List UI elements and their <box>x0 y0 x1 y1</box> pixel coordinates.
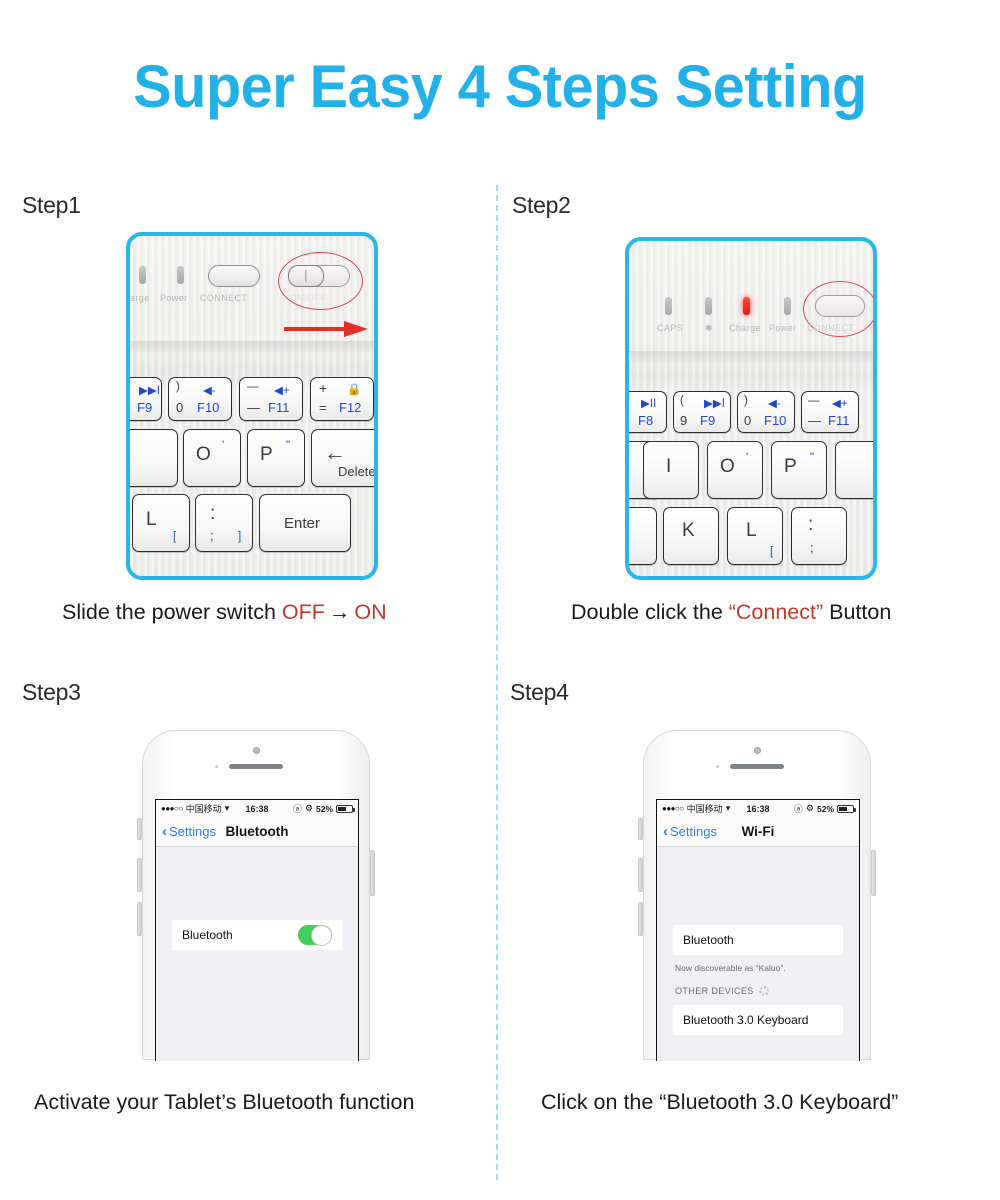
alarm-icon: ⓐ <box>293 802 302 815</box>
battery-percent: 52% <box>316 804 333 814</box>
key-l[interactable]: L [ <box>132 494 190 552</box>
key-icon-next-track: ▶▶I <box>139 383 160 397</box>
key-f8[interactable]: ✶ ▶II 8 F8 <box>625 391 667 433</box>
step3-label: Step3 <box>22 679 81 706</box>
key-label-apostrophe: ' <box>746 452 748 464</box>
led-bluetooth <box>705 297 712 315</box>
key-label-f10: F10 <box>764 413 786 428</box>
led-charge <box>743 297 750 315</box>
phone-power-button <box>370 850 375 896</box>
indicator-label-connect: CONNECT <box>807 323 854 333</box>
phone-screen: ●●●○○ 中国移动 ▾ 16:38 ⓐ ⚙ 52% ‹ S <box>656 799 860 1061</box>
step1-caption-on: ON <box>354 600 386 624</box>
key-letter[interactable] <box>126 429 178 487</box>
key-label-0: 0 <box>176 400 183 415</box>
step4-label: Step4 <box>510 679 569 706</box>
other-devices-label: OTHER DEVICES <box>675 986 754 996</box>
key-label-bracket-open: [ <box>770 546 773 558</box>
key-o[interactable]: O ' <box>183 429 241 487</box>
step4-caption: Click on the “Bluetooth 3.0 Keyboard” <box>541 1090 898 1115</box>
discoverable-note: Now discoverable as “Kaluo”. <box>675 963 786 973</box>
key-enter[interactable]: Enter <box>259 494 351 552</box>
key-label-o: O <box>196 444 211 466</box>
key-label-semicolon: ; <box>210 528 214 543</box>
led-indicator <box>139 266 146 284</box>
indicator-label-connect: CONNECT <box>200 293 247 303</box>
metal-edge-line <box>130 341 374 355</box>
nav-bar: ‹ Settings Bluetooth <box>156 817 358 847</box>
key-delete[interactable]: ← Delete <box>311 429 378 487</box>
step1-caption-off: OFF <box>282 600 325 624</box>
key-f10[interactable]: ) ◀- 0 F10 <box>737 391 795 433</box>
key-label-l: L <box>746 520 757 542</box>
key-label-semicolon: ; <box>810 540 814 555</box>
step2-caption-connect: “Connect” <box>729 600 823 624</box>
rotation-lock-icon: ⚙ <box>305 803 313 814</box>
key-semicolon[interactable]: : ; ] <box>195 494 253 552</box>
key-label-quote: " <box>810 452 814 464</box>
bluetooth-row-label: Bluetooth <box>182 928 233 942</box>
step1-caption: Slide the power switch OFF→ON <box>62 600 387 625</box>
key-label-quote: " <box>286 440 290 452</box>
earpiece-speaker <box>730 764 784 769</box>
step2-caption: Double click the “Connect” Button <box>571 600 891 625</box>
proximity-sensor-icon <box>716 765 719 768</box>
nav-bar: ‹ Settings Wi-Fi <box>657 817 859 847</box>
device-label: Bluetooth 3.0 Keyboard <box>683 1013 808 1027</box>
connect-button[interactable] <box>208 265 260 287</box>
key-icon-volume-up: ◀+ <box>832 396 848 410</box>
status-right: ⓐ ⚙ 52% <box>293 802 353 815</box>
metal-edge-line <box>629 351 873 365</box>
indicator-label-power: Power <box>160 293 188 303</box>
led-power <box>784 297 791 315</box>
phone-power-button <box>871 850 876 896</box>
step2-label: Step2 <box>512 192 571 219</box>
indicator-label-caps: CAPS <box>657 323 683 333</box>
step1-caption-prefix: Slide the power switch <box>62 600 282 624</box>
step1-label: Step1 <box>22 192 81 219</box>
bluetooth-toggle-row[interactable]: Bluetooth <box>172 920 342 950</box>
key-label-f12: F12 <box>339 400 361 415</box>
key-icon-play-pause: ▶II <box>641 396 656 410</box>
step2-keyboard-photo: CAPS ✱ Charge Power CONNECT ✶ ▶II 8 F8 (… <box>625 237 877 580</box>
phone-body: ●●●○○ 中国移动 ▾ 16:38 ⓐ ⚙ 52% ‹ S <box>142 730 370 1060</box>
key-label-apostrophe: ' <box>222 440 224 452</box>
step2-caption-prefix: Double click the <box>571 600 729 624</box>
key-semicolon[interactable]: : ; <box>791 507 847 565</box>
key-p[interactable]: P " <box>771 441 827 499</box>
key-label-underscore: — <box>247 400 260 415</box>
indicator-label-charge: Charge <box>729 323 761 333</box>
step2-caption-suffix: Button <box>823 600 891 624</box>
bluetooth-row-label: Bluetooth <box>683 933 734 947</box>
front-camera-icon <box>754 747 761 754</box>
key-label-k: K <box>682 520 695 542</box>
key-o[interactable]: O ' <box>707 441 763 499</box>
phone-screen: ●●●○○ 中国移动 ▾ 16:38 ⓐ ⚙ 52% ‹ S <box>155 799 359 1061</box>
key-label-p: P <box>784 456 797 478</box>
key-f11[interactable]: — ◀+ — F11 <box>801 391 859 433</box>
loading-spinner-icon <box>759 986 769 996</box>
key-label-i: I <box>666 456 671 478</box>
key-label-underscore: — <box>808 413 821 428</box>
other-devices-header: OTHER DEVICES <box>675 986 769 996</box>
key-label-f8: F8 <box>638 413 653 428</box>
key-i[interactable]: I <box>643 441 699 499</box>
key-f10[interactable]: ) ◀- 0 F10 <box>168 377 232 421</box>
key-label-p: P <box>260 444 273 466</box>
page-title: Super Easy 4 Steps Setting <box>20 52 980 121</box>
key-label-paren-close: ) <box>744 395 748 407</box>
key-k[interactable]: K <box>663 507 719 565</box>
red-highlight-ellipse <box>278 252 363 310</box>
step1-keyboard-photo: arge Power CONNECT ON/OFF ▶▶I F9 ) ◀- 0 … <box>126 232 378 580</box>
alarm-icon: ⓐ <box>794 802 803 815</box>
battery-percent: 52% <box>817 804 834 814</box>
key-label-minus: — <box>247 381 259 393</box>
indicator-label-bluetooth: ✱ <box>705 323 713 334</box>
key-icon-volume-down: ◀- <box>768 396 781 410</box>
device-row-bluetooth-keyboard[interactable]: Bluetooth 3.0 Keyboard <box>673 1005 843 1035</box>
key-label-delete: Delete <box>338 464 376 479</box>
key-icon-volume-down: ◀- <box>203 383 216 397</box>
red-arrow-icon <box>282 318 370 340</box>
key-icon-lock: 🔒 <box>347 382 361 396</box>
key-f12[interactable]: + 🔒 = F12 <box>310 377 374 421</box>
rotation-lock-icon: ⚙ <box>806 803 814 814</box>
key-icon-backspace-arrow: ← <box>324 440 346 466</box>
earpiece-speaker <box>229 764 283 769</box>
status-right: ⓐ ⚙ 52% <box>794 802 854 815</box>
key-f9[interactable]: ( ▶▶I 9 F9 <box>673 391 731 433</box>
screen-title: Bluetooth <box>156 824 358 839</box>
front-camera-icon <box>253 747 260 754</box>
key-label-bracket-open: [ <box>173 531 176 543</box>
status-bar: ●●●○○ 中国移动 ▾ 16:38 ⓐ ⚙ 52% <box>657 800 859 817</box>
led-caps <box>665 297 672 315</box>
key-label-o: O <box>720 456 735 478</box>
step1-caption-arrow: → <box>325 600 355 625</box>
key-f11[interactable]: — ◀+ — F11 <box>239 377 303 421</box>
key-label-asterisk: ✶ <box>625 395 628 409</box>
key-bracket[interactable] <box>835 441 877 499</box>
key-label-f11: F11 <box>828 413 849 428</box>
screen-title: Wi-Fi <box>657 824 859 839</box>
key-p[interactable]: P " <box>247 429 305 487</box>
battery-icon <box>336 805 353 813</box>
key-label-f9: F9 <box>700 413 715 428</box>
key-label-minus: — <box>808 395 820 407</box>
key-label-l: L <box>146 509 157 531</box>
key-label-colon: : <box>808 514 813 536</box>
key-label-paren-open: ( <box>680 395 684 407</box>
phone-body: ●●●○○ 中国移动 ▾ 16:38 ⓐ ⚙ 52% ‹ S <box>643 730 871 1060</box>
proximity-sensor-icon <box>215 765 218 768</box>
key-label-enter: Enter <box>284 515 320 532</box>
indicator-label-power: Power <box>769 323 797 333</box>
key-label-f9: F9 <box>137 400 152 415</box>
key-label-colon: : <box>210 503 215 525</box>
key-icon-next-track: ▶▶I <box>704 396 725 410</box>
key-l[interactable]: L [ <box>727 507 783 565</box>
bluetooth-toggle-switch[interactable] <box>298 925 332 945</box>
step3-caption: Activate your Tablet’s Bluetooth functio… <box>34 1090 414 1115</box>
key-f9[interactable]: ▶▶I F9 <box>126 377 162 421</box>
steps-infographic: Super Easy 4 Steps Setting Step1 arge Po… <box>0 0 1000 1200</box>
status-bar: ●●●○○ 中国移动 ▾ 16:38 ⓐ ⚙ 52% <box>156 800 358 817</box>
step3-phone-mockup: ●●●○○ 中国移动 ▾ 16:38 ⓐ ⚙ 52% ‹ S <box>122 730 390 1060</box>
key-label-9: 9 <box>680 413 687 428</box>
key-label-plus: + <box>319 380 327 396</box>
bluetooth-row[interactable]: Bluetooth <box>673 925 843 955</box>
key-label-equals: = <box>319 400 327 415</box>
step4-phone-mockup: ●●●○○ 中国移动 ▾ 16:38 ⓐ ⚙ 52% ‹ S <box>623 730 891 1060</box>
key-j[interactable] <box>625 507 657 565</box>
toggle-knob <box>311 925 332 946</box>
vertical-divider <box>496 185 498 1180</box>
indicator-label-charge: arge <box>130 293 150 303</box>
key-icon-volume-up: ◀+ <box>274 383 290 397</box>
led-indicator <box>177 266 184 284</box>
key-label-bracket-close: ] <box>238 531 241 543</box>
key-label-paren-close: ) <box>176 381 180 393</box>
key-label-f10: F10 <box>197 400 219 415</box>
key-label-0: 0 <box>744 413 751 428</box>
battery-icon <box>837 805 854 813</box>
key-label-f11: F11 <box>268 400 289 415</box>
